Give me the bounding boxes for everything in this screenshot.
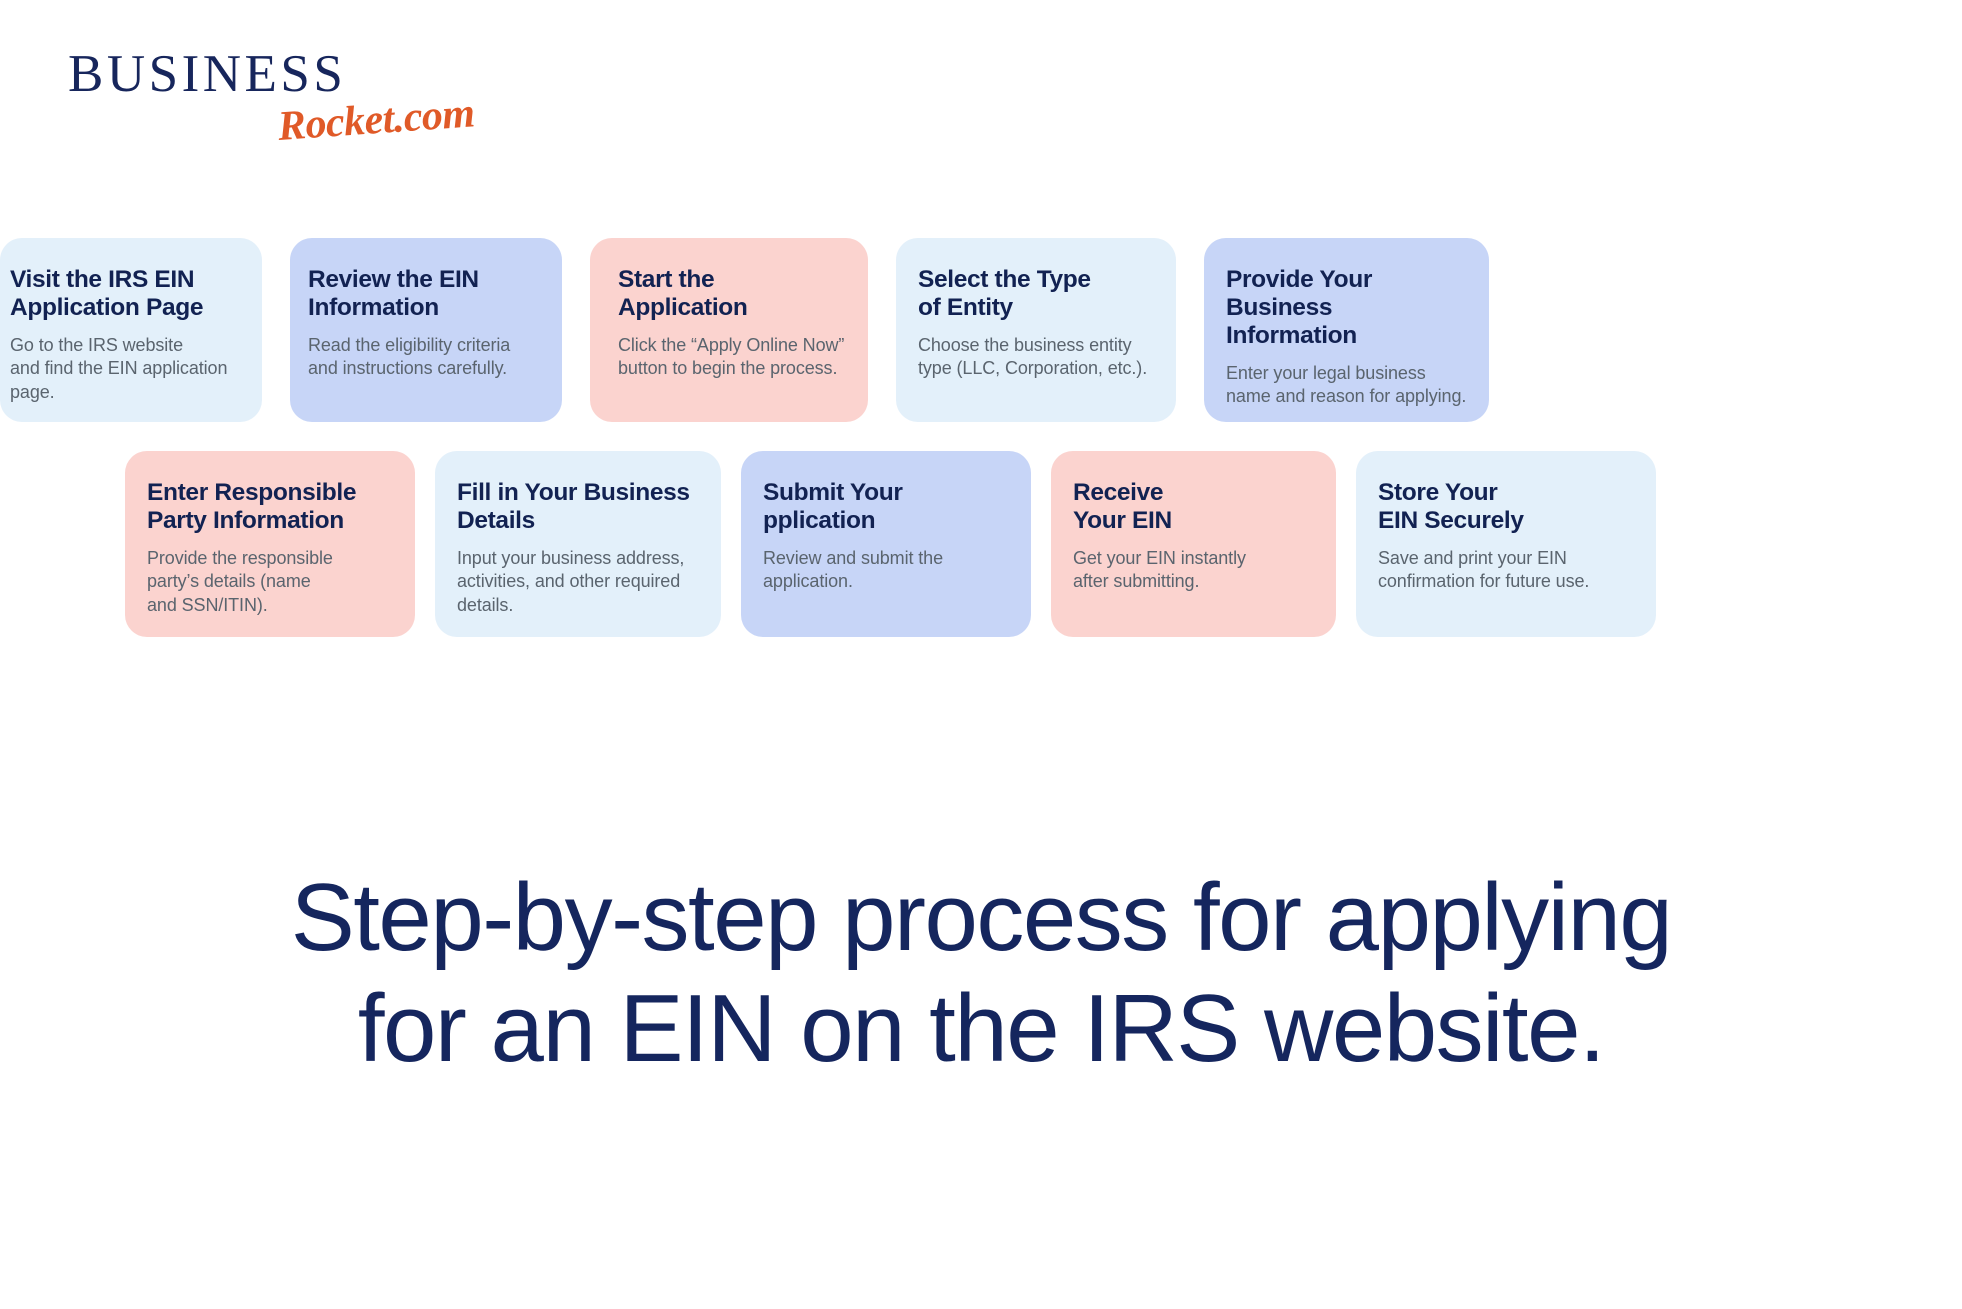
step-card-body: Input your business address, activities,…	[457, 547, 699, 617]
step-card-title: Provide Your Business Information	[1226, 266, 1467, 350]
step-card[interactable]: Select the Type of EntityChoose the busi…	[896, 238, 1176, 422]
step-card-title: Review the EIN Information	[308, 266, 540, 322]
step-card-body: Click the “Apply Online Now” button to b…	[618, 334, 846, 381]
step-card[interactable]: Submit Your pplicationReview and submit …	[741, 451, 1031, 637]
step-card[interactable]: Enter Responsible Party InformationProvi…	[125, 451, 415, 637]
headline-line-2: for an EIN on the IRS website.	[0, 973, 1962, 1084]
step-card-title: Start the Application	[618, 266, 846, 322]
step-card-body: Get your EIN instantly after submitting.	[1073, 547, 1314, 594]
step-card[interactable]: Receive Your EINGet your EIN instantly a…	[1051, 451, 1336, 637]
step-card-title: Enter Responsible Party Information	[147, 479, 393, 535]
brand-logo[interactable]: BUSINESS Rocket.com	[68, 48, 628, 168]
step-card[interactable]: Review the EIN InformationRead the eligi…	[290, 238, 562, 422]
step-card-body: Review and submit the application.	[763, 547, 1009, 594]
step-card[interactable]: Fill in Your Business DetailsInput your …	[435, 451, 721, 637]
step-card-body: Choose the business entity type (LLC, Co…	[918, 334, 1154, 381]
step-card[interactable]: Provide Your Business InformationEnter y…	[1204, 238, 1489, 422]
page-headline: Step-by-step process for applying for an…	[0, 862, 1962, 1085]
step-card-title: Select the Type of Entity	[918, 266, 1154, 322]
step-card-body: Go to the IRS website and find the EIN a…	[10, 334, 240, 404]
step-card-body: Provide the responsible party’s details …	[147, 547, 393, 617]
step-card-title: Submit Your pplication	[763, 479, 1009, 535]
step-card[interactable]: Visit the IRS EIN Application PageGo to …	[0, 238, 262, 422]
step-card[interactable]: Start the ApplicationClick the “Apply On…	[590, 238, 868, 422]
step-card-body: Enter your legal business name and reaso…	[1226, 362, 1467, 409]
headline-line-1: Step-by-step process for applying	[0, 862, 1962, 973]
step-card-title: Store Your EIN Securely	[1378, 479, 1634, 535]
step-card-body: Save and print your EIN confirmation for…	[1378, 547, 1634, 594]
step-card-row-top: Visit the IRS EIN Application PageGo to …	[0, 238, 1517, 422]
step-card-body: Read the eligibility criteria and instru…	[308, 334, 540, 381]
step-card-row-bottom: Enter Responsible Party InformationProvi…	[125, 451, 1676, 637]
step-card[interactable]: Store Your EIN SecurelySave and print yo…	[1356, 451, 1656, 637]
step-card-title: Visit the IRS EIN Application Page	[10, 266, 240, 322]
step-card-title: Fill in Your Business Details	[457, 479, 699, 535]
step-card-title: Receive Your EIN	[1073, 479, 1314, 535]
